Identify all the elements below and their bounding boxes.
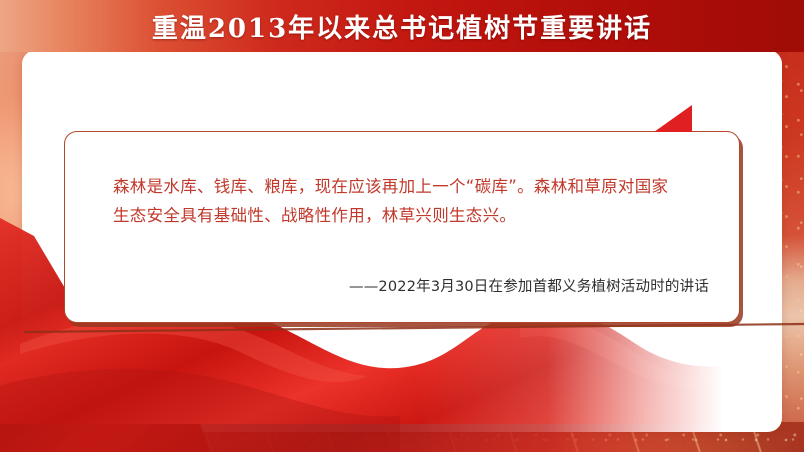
- title-banner: 重温2013年以来总书记植树节重要讲话: [0, 0, 804, 52]
- quote-line-2: 生态安全具有基础性、战略性作用，林草兴则生态兴。: [113, 206, 516, 225]
- quote-card: 森林是水库、钱库、粮库，现在应该再加上一个“碳库”。森林和草原对国家 生态安全具…: [64, 131, 740, 323]
- quote-text: 森林是水库、钱库、粮库，现在应该再加上一个“碳库”。森林和草原对国家 生态安全具…: [113, 172, 705, 230]
- red-triangle-flag-icon: [654, 105, 692, 132]
- quote-line-1: 森林是水库、钱库、粮库，现在应该再加上一个“碳库”。森林和草原对国家: [113, 177, 668, 196]
- quote-attribution: ——2022年3月30日在参加首都义务植树活动时的讲话: [349, 275, 709, 296]
- slide-root: 重温2013年以来总书记植树节重要讲话: [0, 0, 804, 452]
- page-title: 重温2013年以来总书记植树节重要讲话: [152, 8, 652, 45]
